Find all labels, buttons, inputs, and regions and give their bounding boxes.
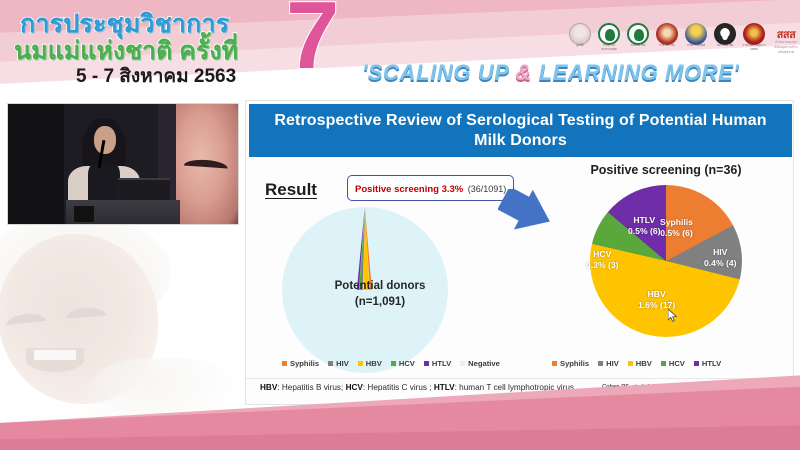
- pie-label-hbv: HBV 1.6% (17): [638, 289, 675, 310]
- pie-label-syphilis-name: Syphilis: [660, 217, 693, 228]
- legend-item-htlv: HTLV: [424, 359, 451, 368]
- potential-donors-label-line1: Potential donors: [282, 279, 478, 295]
- legend-item-negative: Negative: [460, 359, 500, 368]
- positive-screening-chart-title: Positive screening (n=36): [542, 163, 790, 177]
- royal-seal-logo-icon: มูลนิธิ: [568, 23, 592, 53]
- potential-donors-chart: Potential donors (n=1,091): [268, 199, 468, 379]
- conference-edition-number: 7: [286, 0, 339, 84]
- pie-label-htlv-name: HTLV: [628, 215, 660, 226]
- potential-donors-pie: Potential donors (n=1,091): [282, 207, 448, 373]
- legend-item-hbv: HBV: [358, 359, 382, 368]
- baby-body: [88, 358, 236, 416]
- baby-teeth: [34, 350, 76, 360]
- positive-screening-legend: Syphilis HIV HBV HCV HTLV: [552, 359, 721, 368]
- abbrev-htlv: HTLV: [434, 383, 455, 392]
- abbrev-hbv: HBV: [260, 383, 277, 392]
- potential-donors-label-line2: (n=1,091): [282, 295, 478, 311]
- podium-plate: [74, 206, 94, 222]
- pie-label-syphilis-value: 0.5% (6): [660, 228, 693, 239]
- pie-label-hiv-name: HIV: [704, 247, 736, 258]
- pie-label-hiv-value: 0.4% (4): [704, 258, 736, 269]
- abbrev-hcv: HCV: [346, 383, 363, 392]
- potential-donors-legend: Syphilis HIV HBV HCV HTLV Negative: [282, 359, 500, 368]
- slide-footer: HBV: Hepatitis B virus; HCV: Hepatitis C…: [246, 378, 795, 400]
- legend-item-syphilis-2: Syphilis: [552, 359, 589, 368]
- pie-label-syphilis: Syphilis 0.5% (6): [660, 217, 693, 238]
- legend-item-hiv: HIV: [328, 359, 349, 368]
- conference-header-banner: การประชุมวิชาการ นมแม่แห่งชาติ ครั้งที่ …: [0, 0, 800, 96]
- screen: การประชุมวิชาการ นมแม่แห่งชาติ ครั้งที่ …: [0, 0, 800, 450]
- speaker-video-panel[interactable]: [7, 103, 239, 225]
- baby-watermark-photo: [0, 216, 236, 416]
- slide-title: Retrospective Review of Serological Test…: [249, 104, 792, 157]
- pie-label-hcv: HCV 0.3% (3): [586, 249, 618, 270]
- positive-screening-chart: Positive screening (n=36) Syphilis 0.5% …: [542, 163, 790, 379]
- callout-percent: Positive screening 3.3%: [355, 184, 463, 195]
- legend-item-hcv: HCV: [391, 359, 415, 368]
- tagline-ampersand: &: [515, 60, 532, 85]
- source-citation: Cohen RS, et al. Arch Dis Child Fetal Ne…: [602, 384, 787, 390]
- pie-label-hbv-name: HBV: [638, 289, 675, 300]
- health-department-green-logo-icon: กรมอนามัย: [626, 23, 650, 53]
- pie-label-hiv: HIV 0.4% (4): [704, 247, 736, 268]
- thaihealth-sss-logo-icon: สสส สำนักงานกองทุนสนับสนุนการสร้างเสริมส…: [771, 23, 800, 53]
- legend-item-hiv-2: HIV: [598, 359, 619, 368]
- garuda-crest-logo-icon: กรมการแพทย์: [684, 23, 708, 53]
- result-heading: Result: [265, 180, 317, 200]
- black-circle-crest-logo-icon: มหาวิทยาลัย: [713, 23, 737, 53]
- potential-donors-center-label: Potential donors (n=1,091): [282, 279, 478, 310]
- sponsor-logo-strip: มูลนิธิ กระทรวงสาธารณสุข กรมอนามัย ราชวิ…: [568, 23, 800, 53]
- legend-item-hbv-2: HBV: [628, 359, 652, 368]
- legend-item-syphilis: Syphilis: [282, 359, 319, 368]
- tagline-part-2: LEARNING MORE': [532, 60, 739, 85]
- pie-label-htlv: HTLV 0.5% (6): [628, 215, 660, 236]
- laptop-icon: [118, 178, 170, 202]
- video-background-left: [8, 104, 64, 225]
- footer-band-dark-pink: [0, 424, 800, 450]
- conference-date-thai: 5 - 7 สิงหาคม 2563: [76, 61, 236, 91]
- pie-label-htlv-value: 0.5% (6): [628, 226, 660, 237]
- video-baby-image-inset: [176, 104, 238, 225]
- royal-crest-red-logo-icon: ราชวิทยาลัย: [655, 23, 679, 53]
- legend-item-hcv-2: HCV: [661, 359, 685, 368]
- presentation-slide: Retrospective Review of Serological Test…: [245, 100, 794, 405]
- public-health-green-logo-icon: กระทรวงสาธารณสุข: [597, 23, 621, 53]
- tagline-part-1: 'SCALING UP: [362, 60, 515, 85]
- pie-label-hcv-name: HCV: [586, 249, 618, 260]
- pie-label-hcv-value: 0.3% (3): [586, 260, 618, 271]
- mouse-cursor-icon: [668, 309, 677, 322]
- conference-tagline: 'SCALING UP & LEARNING MORE': [362, 60, 739, 86]
- positive-screening-callout: Positive screening 3.3% (36/1091): [347, 175, 514, 201]
- red-royal-crest-logo-icon: ราชวิทยาลัยกุมารแพทย์: [742, 23, 766, 53]
- abbreviations-note: HBV: Hepatitis B virus; HCV: Hepatitis C…: [260, 383, 574, 392]
- legend-item-htlv-2: HTLV: [694, 359, 721, 368]
